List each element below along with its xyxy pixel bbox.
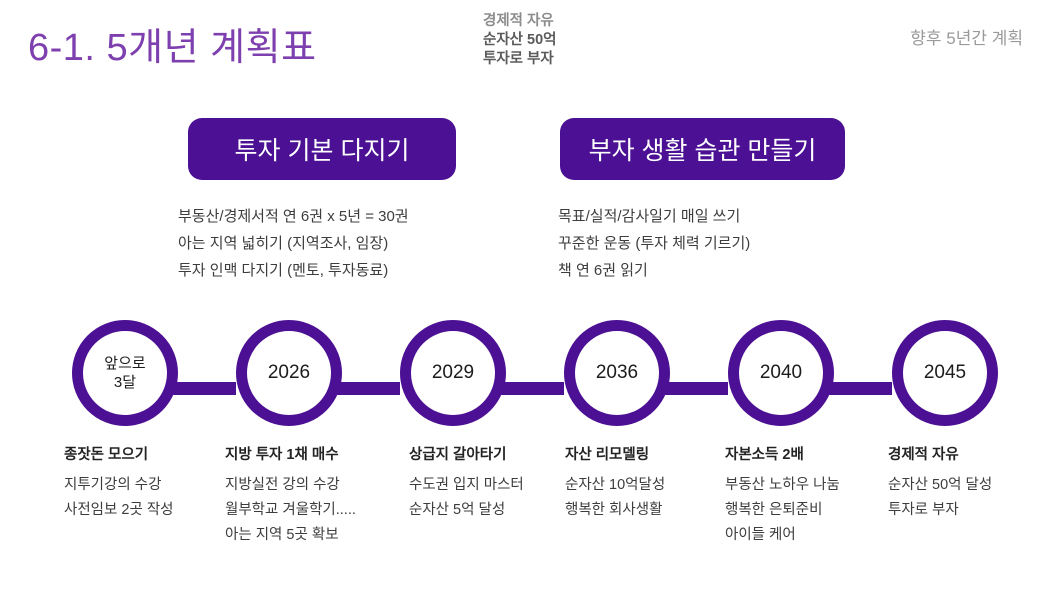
caption-heading: 상급지 갈아타기 [409, 443, 584, 464]
timeline-node-3[interactable]: 2029 [400, 320, 506, 426]
goal-line-1: 경제적 자유 [483, 12, 557, 31]
note-line: 아는 지역 넓히기 (지역조사, 임장) [178, 230, 409, 257]
node-label: 2045 [924, 362, 966, 384]
timeline-connector [664, 382, 728, 395]
panel-heading-investment-basics: 투자 기본 다지기 [188, 118, 456, 180]
caption-line: 지방실전 강의 수강 [225, 473, 400, 498]
caption-heading: 자산 리모델링 [565, 443, 740, 464]
note-line: 투자 인맥 다지기 (멘토, 투자동료) [178, 257, 409, 284]
node-label: 2036 [596, 362, 638, 384]
caption-line: 투자로 부자 [888, 498, 1055, 523]
caption-line: 순자산 50억 달성 [888, 473, 1055, 498]
node-label: 3달 [114, 373, 136, 392]
timeline-connector [336, 382, 400, 395]
panel-heading-label: 투자 기본 다지기 [235, 131, 410, 167]
node-label: 앞으로 [104, 354, 145, 373]
page-title: 6-1. 5개년 계획표 [28, 16, 317, 71]
caption-line: 부동산 노하우 나눔 [725, 473, 900, 498]
caption-heading: 경제적 자유 [888, 443, 1055, 464]
caption-line: 사전임보 2곳 작성 [64, 498, 239, 523]
note-line: 목표/실적/감사일기 매일 쓰기 [558, 203, 750, 230]
caption-line: 지투기강의 수강 [64, 473, 239, 498]
caption-heading: 자본소득 2배 [725, 443, 900, 464]
goal-summary: 경제적 자유 순자산 50억 투자로 부자 [483, 12, 557, 69]
timeline-connector [172, 382, 236, 395]
caption-line: 수도권 입지 마스터 [409, 473, 584, 498]
panel-notes-investment-basics: 부동산/경제서적 연 6권 x 5년 = 30권 아는 지역 넓히기 (지역조사… [178, 203, 409, 284]
timeline-node-4[interactable]: 2036 [564, 320, 670, 426]
caption-line: 행복한 은퇴준비 [725, 498, 900, 523]
note-line: 꾸준한 운동 (투자 체력 기르기) [558, 230, 750, 257]
note-line: 부동산/경제서적 연 6권 x 5년 = 30권 [178, 203, 409, 230]
timeline-connector [828, 382, 892, 395]
timeline-caption-5: 자본소득 2배 부동산 노하우 나눔 행복한 은퇴준비 아이들 케어 [725, 443, 900, 548]
timeline-caption-3: 상급지 갈아타기 수도권 입지 마스터 순자산 5억 달성 [409, 443, 584, 523]
caption-line: 순자산 5억 달성 [409, 498, 584, 523]
caption-heading: 지방 투자 1채 매수 [225, 443, 400, 464]
timeline-node-5[interactable]: 2040 [728, 320, 834, 426]
timeline-caption-6: 경제적 자유 순자산 50억 달성 투자로 부자 [888, 443, 1055, 523]
note-line: 책 연 6권 읽기 [558, 257, 750, 284]
timeline-caption-2: 지방 투자 1채 매수 지방실전 강의 수강 월부학교 겨울학기..... 아는… [225, 443, 400, 548]
timeline-caption-1: 종잣돈 모으기 지투기강의 수강 사전임보 2곳 작성 [64, 443, 239, 523]
panel-heading-rich-habits: 부자 생활 습관 만들기 [560, 118, 845, 180]
goal-line-2: 순자산 50억 [483, 31, 557, 50]
caption-line: 행복한 회사생활 [565, 498, 740, 523]
node-label: 2040 [760, 362, 802, 384]
caption-line: 아이들 케어 [725, 523, 900, 548]
panel-notes-rich-habits: 목표/실적/감사일기 매일 쓰기 꾸준한 운동 (투자 체력 기르기) 책 연 … [558, 203, 750, 284]
timeline-connector [500, 382, 564, 395]
node-label: 2029 [432, 362, 474, 384]
timeline-node-6[interactable]: 2045 [892, 320, 998, 426]
slide-subtitle: 향후 5년간 계획 [910, 24, 1023, 49]
caption-line: 월부학교 겨울학기..... [225, 498, 400, 523]
timeline: 앞으로 3달 2026 2029 2036 2040 2045 [0, 320, 1055, 436]
node-label: 2026 [268, 362, 310, 384]
caption-heading: 종잣돈 모으기 [64, 443, 239, 464]
caption-line: 순자산 10억달성 [565, 473, 740, 498]
slide-canvas: 6-1. 5개년 계획표 경제적 자유 순자산 50억 투자로 부자 향후 5년… [0, 0, 1055, 593]
timeline-node-1[interactable]: 앞으로 3달 [72, 320, 178, 426]
timeline-node-2[interactable]: 2026 [236, 320, 342, 426]
panel-heading-label: 부자 생활 습관 만들기 [589, 131, 817, 167]
goal-line-3: 투자로 부자 [483, 50, 557, 69]
timeline-caption-4: 자산 리모델링 순자산 10억달성 행복한 회사생활 [565, 443, 740, 523]
caption-line: 아는 지역 5곳 확보 [225, 523, 400, 548]
